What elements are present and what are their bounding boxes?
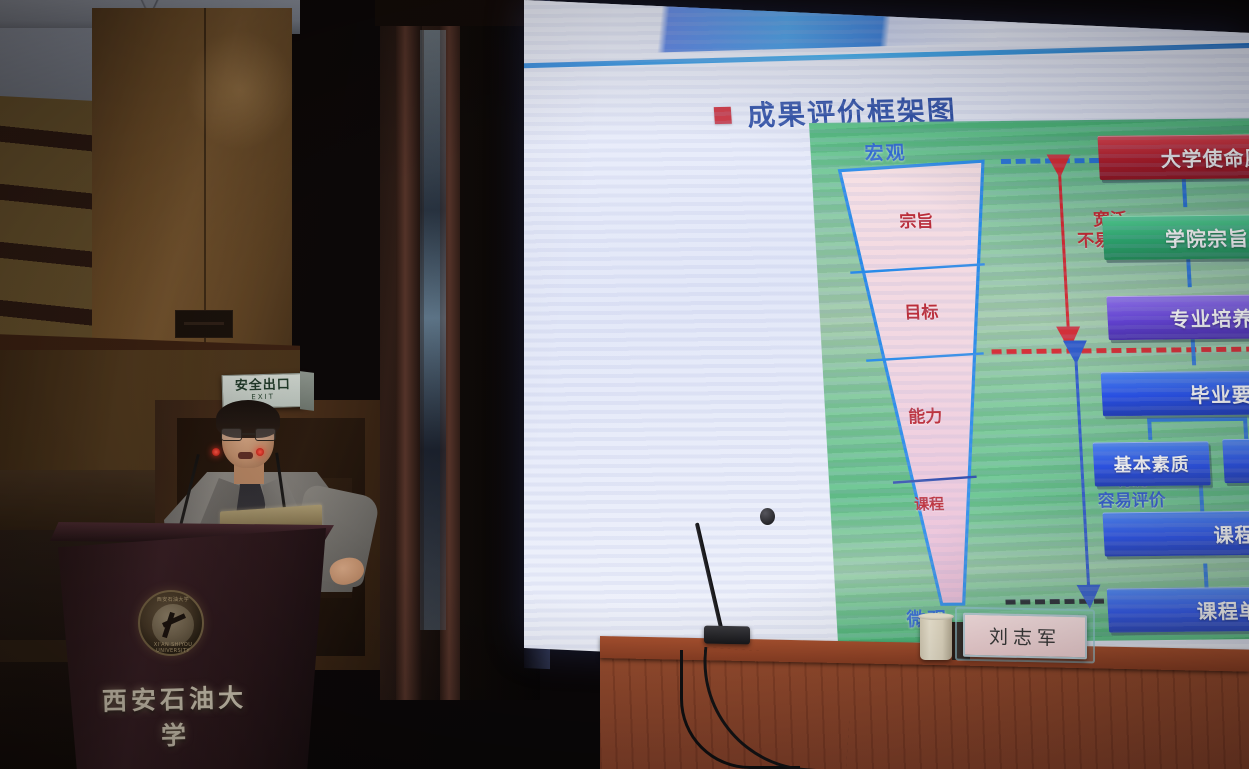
framework-box-column: 大学使命愿景 学院宗旨目标 专业培养目标 毕业要求 基本素质 核心能力 课程 课… <box>1087 125 1249 128</box>
table-microphone-base <box>704 626 750 645</box>
box-college-goals: 学院宗旨目标 <box>1102 213 1249 260</box>
connector-7 <box>1199 485 1204 511</box>
annotation-clear-line2: 容易评价 <box>1097 491 1166 513</box>
wall-vent <box>175 310 233 338</box>
title-bullet-square <box>714 106 732 123</box>
box-course-unit: 课程单元 <box>1107 586 1249 633</box>
funnel-segment-2: 目标 <box>891 298 952 324</box>
funnel-top-label: 宏观 <box>864 138 907 165</box>
framework-green-panel: 宏观 宗旨 目标 能力 课程 微观 <box>809 118 1249 643</box>
pillar-glass-2 <box>424 30 446 630</box>
exit-sign-side <box>300 371 314 411</box>
podium-microphone-led-left <box>212 448 220 456</box>
podium-microphone-led-right <box>256 448 264 456</box>
connector-4 <box>1147 417 1247 422</box>
name-placard-text: 刘志军 <box>989 622 1061 651</box>
university-emblem: 西安石油大学 XI'AN SHIYOU UNIVERSITY <box>138 590 204 656</box>
funnel-segment-1: 宗旨 <box>886 207 947 233</box>
lecture-hall-photo: 安全出口 EXIT 成果评价框架图 <box>0 0 1249 769</box>
connector-6 <box>1243 417 1248 439</box>
box-program-objectives: 专业培养目标 <box>1106 293 1249 340</box>
university-emblem-text: 西安石油大学 XI'AN SHIYOU UNIVERSITY <box>140 592 206 658</box>
emblem-bottom-text: XI'AN SHIYOU UNIVERSITY <box>140 642 206 654</box>
speaker-mouth <box>238 452 253 459</box>
funnel-segment-3: 能力 <box>895 402 956 428</box>
name-placard: 刘志军 <box>963 613 1087 660</box>
glasses-lens-right <box>255 428 276 441</box>
connector-2 <box>1186 259 1192 287</box>
box-core-competence: 核心能力 <box>1222 438 1249 484</box>
box-course: 课程 <box>1102 510 1249 557</box>
paper-cup-rim <box>918 613 954 620</box>
striped-wood-panel <box>0 96 98 363</box>
box-university-mission: 大学使命愿景 <box>1097 133 1249 180</box>
pillar-top-cap <box>375 0 545 26</box>
baseboard <box>0 640 70 662</box>
connector-1 <box>1182 179 1188 207</box>
pillar-slat-1 <box>396 0 422 700</box>
box-graduation-requirements: 毕业要求 <box>1101 370 1249 417</box>
podium-university-name: 西安石油大学 <box>89 678 261 754</box>
wall-light-glow <box>185 30 295 150</box>
connector-3 <box>1191 339 1196 365</box>
slide-banner-tab <box>683 0 806 10</box>
projection-screen: 成果评价框架图 <box>524 0 1249 681</box>
table-microphone-head <box>760 508 775 525</box>
exit-sign-label-cn: 安全出口 <box>235 378 291 392</box>
funnel-segment-4: 课程 <box>912 497 947 513</box>
box-basic-quality: 基本素质 <box>1093 441 1211 486</box>
glasses-lens-left <box>221 428 242 441</box>
speaker-glasses <box>221 428 276 441</box>
glasses-bridge <box>242 433 255 435</box>
connector-8 <box>1203 563 1208 587</box>
paper-cup <box>920 616 952 660</box>
emblem-top-text: 西安石油大学 <box>140 596 206 603</box>
